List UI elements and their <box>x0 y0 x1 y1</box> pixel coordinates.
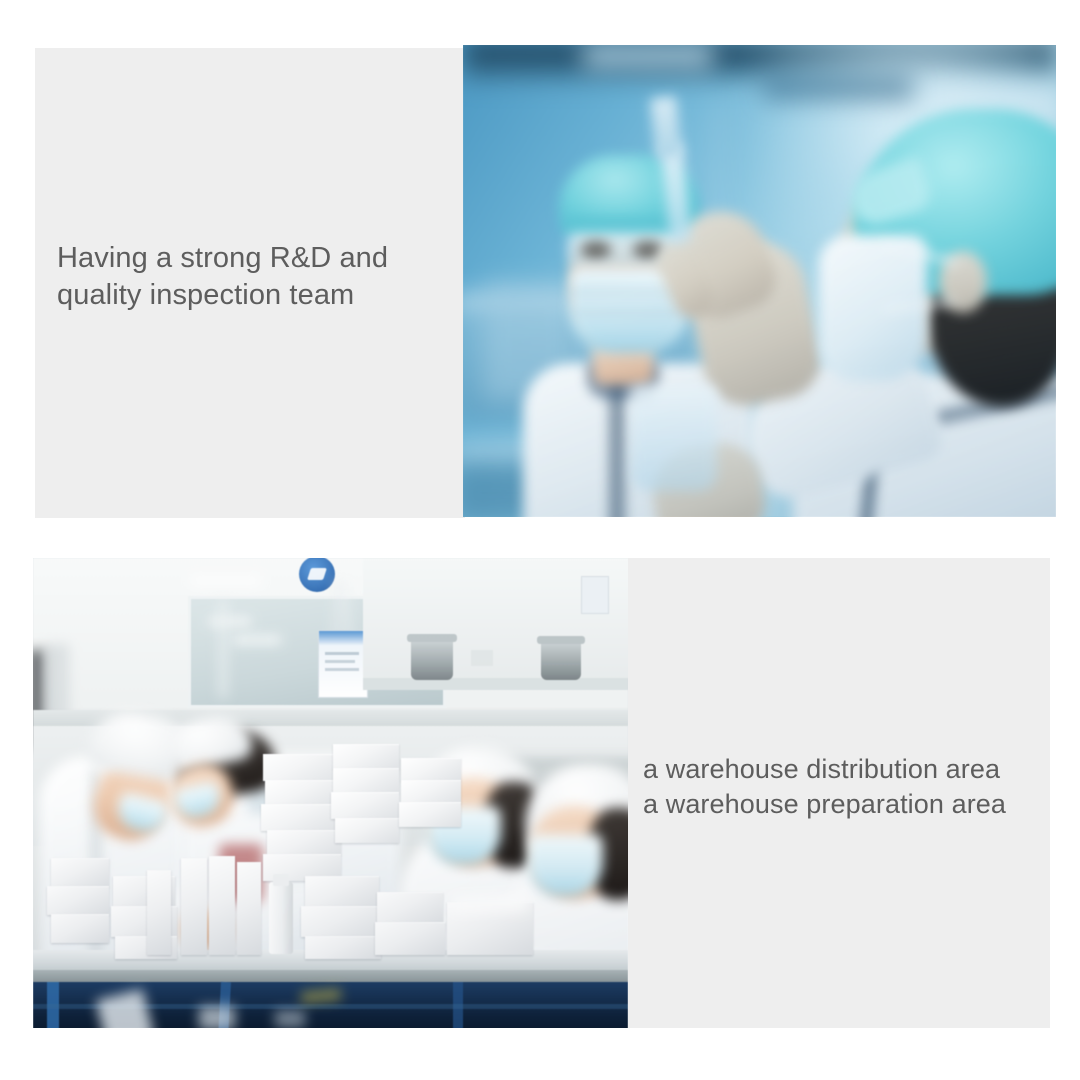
caption-warehouse: a warehouse distribution area a warehous… <box>643 752 1047 822</box>
caption-line-1: Having a strong R&D and <box>57 240 449 277</box>
section-rd-quality-inspection: Having a strong R&D and quality inspecti… <box>0 0 1080 540</box>
caption-rd-quality: Having a strong R&D and quality inspecti… <box>57 240 449 314</box>
photo-laboratory-inspection <box>463 45 1056 517</box>
page-root: Having a strong R&D and quality inspecti… <box>0 0 1080 1080</box>
caption-line-2: quality inspection team <box>57 277 449 314</box>
warehouse-color-wash <box>33 558 628 1028</box>
lab-color-wash <box>463 45 1056 517</box>
caption-line-1: a warehouse distribution area <box>643 752 1047 787</box>
photo-warehouse-packaging-scene <box>33 558 628 1028</box>
caption-line-2: a warehouse preparation area <box>643 787 1047 822</box>
section-warehouse-areas: a warehouse distribution area a warehous… <box>0 540 1080 1080</box>
photo-warehouse-packaging <box>33 558 628 1028</box>
photo-laboratory-inspection-scene <box>463 45 1056 517</box>
